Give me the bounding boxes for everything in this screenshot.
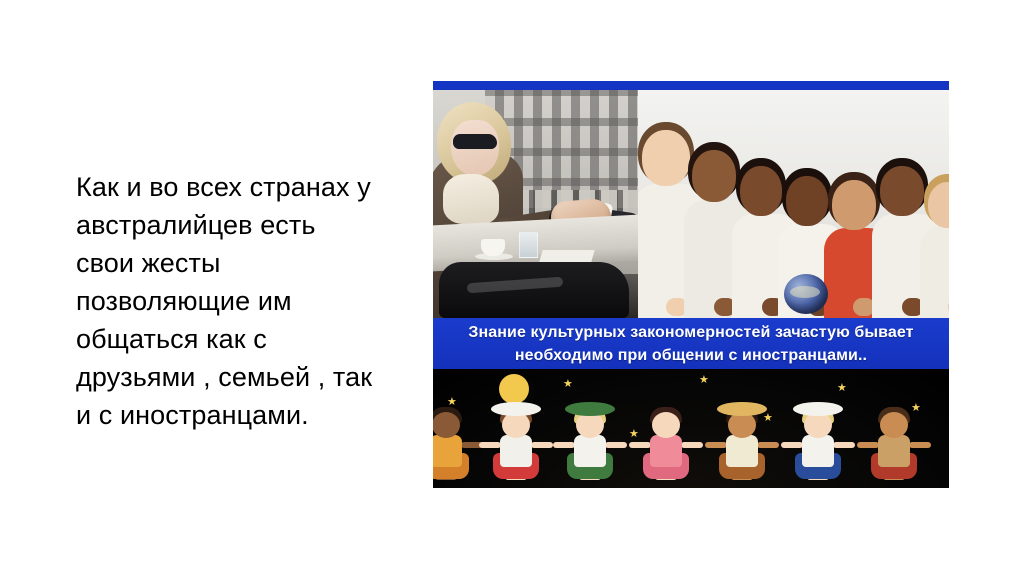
child-arm-right: [757, 442, 779, 448]
child-arm-right: [833, 442, 855, 448]
child-face: [433, 412, 460, 438]
child-dutch: [791, 398, 845, 482]
caption-bar: Знание культурных закономерностей зачаст…: [433, 318, 949, 369]
person-face: [786, 176, 828, 226]
star-icon: ★: [563, 379, 573, 390]
child-arm-right: [605, 442, 627, 448]
child-japan: [639, 398, 693, 482]
child-arm-right: [909, 442, 931, 448]
handshake-cafe-photo: [433, 90, 638, 318]
figure-top-accent-bar: [433, 81, 949, 90]
star-icon: ★: [837, 383, 847, 394]
child-hat: [565, 402, 615, 416]
child-tribal: [867, 398, 921, 482]
star-icon: ★: [629, 429, 639, 440]
person-face: [832, 180, 876, 230]
water-glass-icon: [519, 232, 538, 258]
composite-illustration: Знание культурных закономерностей зачаст…: [433, 81, 949, 488]
woman-scarf: [443, 174, 499, 224]
person-face: [740, 166, 782, 216]
child-costume-top: [802, 435, 834, 467]
caption-line-1: Знание культурных закономерностей зачаст…: [468, 321, 913, 344]
child-arm-right: [531, 442, 553, 448]
slide-canvas: Как и во всех странах у австралийцев ест…: [0, 0, 1024, 574]
person-face: [880, 166, 924, 216]
child-costume-top: [878, 435, 910, 467]
caption-line-2: необходимо при общении с иностранцами..: [515, 344, 867, 367]
child-arm-left: [553, 442, 575, 448]
slide-body-text: Как и во всех странах у австралийцев ест…: [76, 168, 376, 434]
diverse-group-photo: [638, 90, 949, 318]
person-face: [642, 130, 690, 186]
child-tyrol: [563, 398, 617, 482]
sunglasses-icon: [453, 134, 497, 149]
child-costume-top: [433, 435, 462, 467]
papers: [539, 250, 594, 262]
child-africa: [433, 398, 473, 482]
child-arm-left: [629, 442, 651, 448]
child-costume-top: [726, 435, 758, 467]
child-hat: [793, 402, 843, 416]
globe-icon: [784, 274, 828, 314]
star-icon: ★: [699, 375, 709, 386]
child-face: [880, 412, 908, 438]
child-face: [652, 412, 680, 438]
child-colonial: [489, 398, 543, 482]
child-arm-left: [705, 442, 727, 448]
person-face: [692, 150, 736, 202]
child-arm-left: [479, 442, 501, 448]
photo-row: [433, 90, 949, 318]
person-7: [926, 174, 949, 318]
child-hat: [717, 402, 767, 416]
coffee-cup-icon: [481, 239, 505, 256]
child-hat: [491, 402, 541, 416]
child-arm-right: [681, 442, 703, 448]
child-costume-top: [574, 435, 606, 467]
children-costumes-strip: ★★★★★★★: [433, 369, 949, 488]
child-mexico: [715, 398, 769, 482]
child-arm-left: [781, 442, 803, 448]
child-costume-top: [500, 435, 532, 467]
child-costume-top: [650, 435, 682, 467]
child-arm-left: [857, 442, 879, 448]
